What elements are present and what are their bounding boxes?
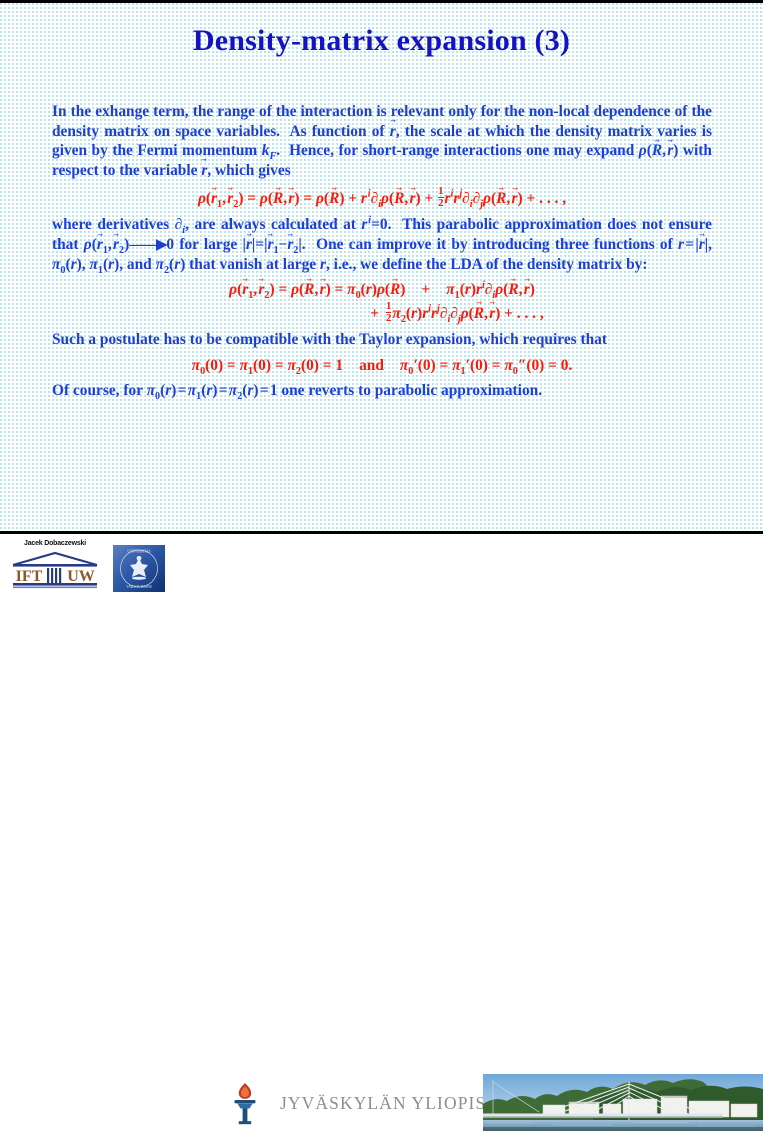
equation-3: π0(0) = π1(0) = π2(0) = 1andπ0′(0) = π1′… bbox=[52, 356, 712, 375]
ift-label: IFT bbox=[16, 568, 43, 585]
ift-uw-building-icon: IFT UW bbox=[9, 549, 101, 591]
slide-content-area: Density-matrix expansion (3) In the exha… bbox=[0, 0, 763, 534]
svg-text:UNIVERSITAS: UNIVERSITAS bbox=[127, 550, 150, 554]
equation-1: ρ(r1, r2) = ρ(R, r) = ρ(R) + r i∂iρ(R, r… bbox=[52, 186, 712, 209]
equation-2-line-2: +12π2(r)rirj∂i∂jρ(R, r) + . . . , bbox=[52, 301, 712, 324]
page-title: Density-matrix expansion (3) bbox=[0, 24, 763, 58]
paragraph-4: Of course, for π0(r) = π1(r) = π2(r) = 1… bbox=[52, 381, 712, 401]
ift-uw-logo: Jacek Dobaczewski IFT UW bbox=[9, 539, 101, 591]
bridge-and-campus-photo bbox=[483, 1074, 763, 1131]
paragraph-1: In the exhange term, the range of the in… bbox=[52, 102, 712, 180]
presentation-slide: Density-matrix expansion (3) In the exha… bbox=[0, 0, 763, 597]
torch-icon bbox=[228, 1081, 262, 1125]
paragraph-2: where derivatives ∂i, are always calcula… bbox=[52, 215, 712, 274]
slide-footer: Jacek Dobaczewski IFT UW bbox=[0, 534, 763, 597]
paragraph-3: Such a postulate has to be compatible wi… bbox=[52, 330, 712, 350]
university-of-warsaw-seal-icon: UNIVERSITAS VARSOVIENSIS bbox=[113, 545, 165, 592]
svg-text:VARSOVIENSIS: VARSOVIENSIS bbox=[126, 585, 152, 589]
jyvaskyla-university-logo: JYVÄSKYLÄN YLIOPISTO bbox=[228, 1080, 512, 1126]
jyu-label: JYVÄSKYLÄN YLIOPISTO bbox=[280, 1093, 512, 1114]
slide-body: In the exhange term, the range of the in… bbox=[52, 102, 712, 400]
equation-2: ρ(r1, r2) = ρ(R, r) = π0(r)ρ(R)+π1(r)ri∂… bbox=[52, 280, 712, 324]
uw-label: UW bbox=[67, 568, 95, 585]
author-name: Jacek Dobaczewski bbox=[9, 539, 101, 549]
